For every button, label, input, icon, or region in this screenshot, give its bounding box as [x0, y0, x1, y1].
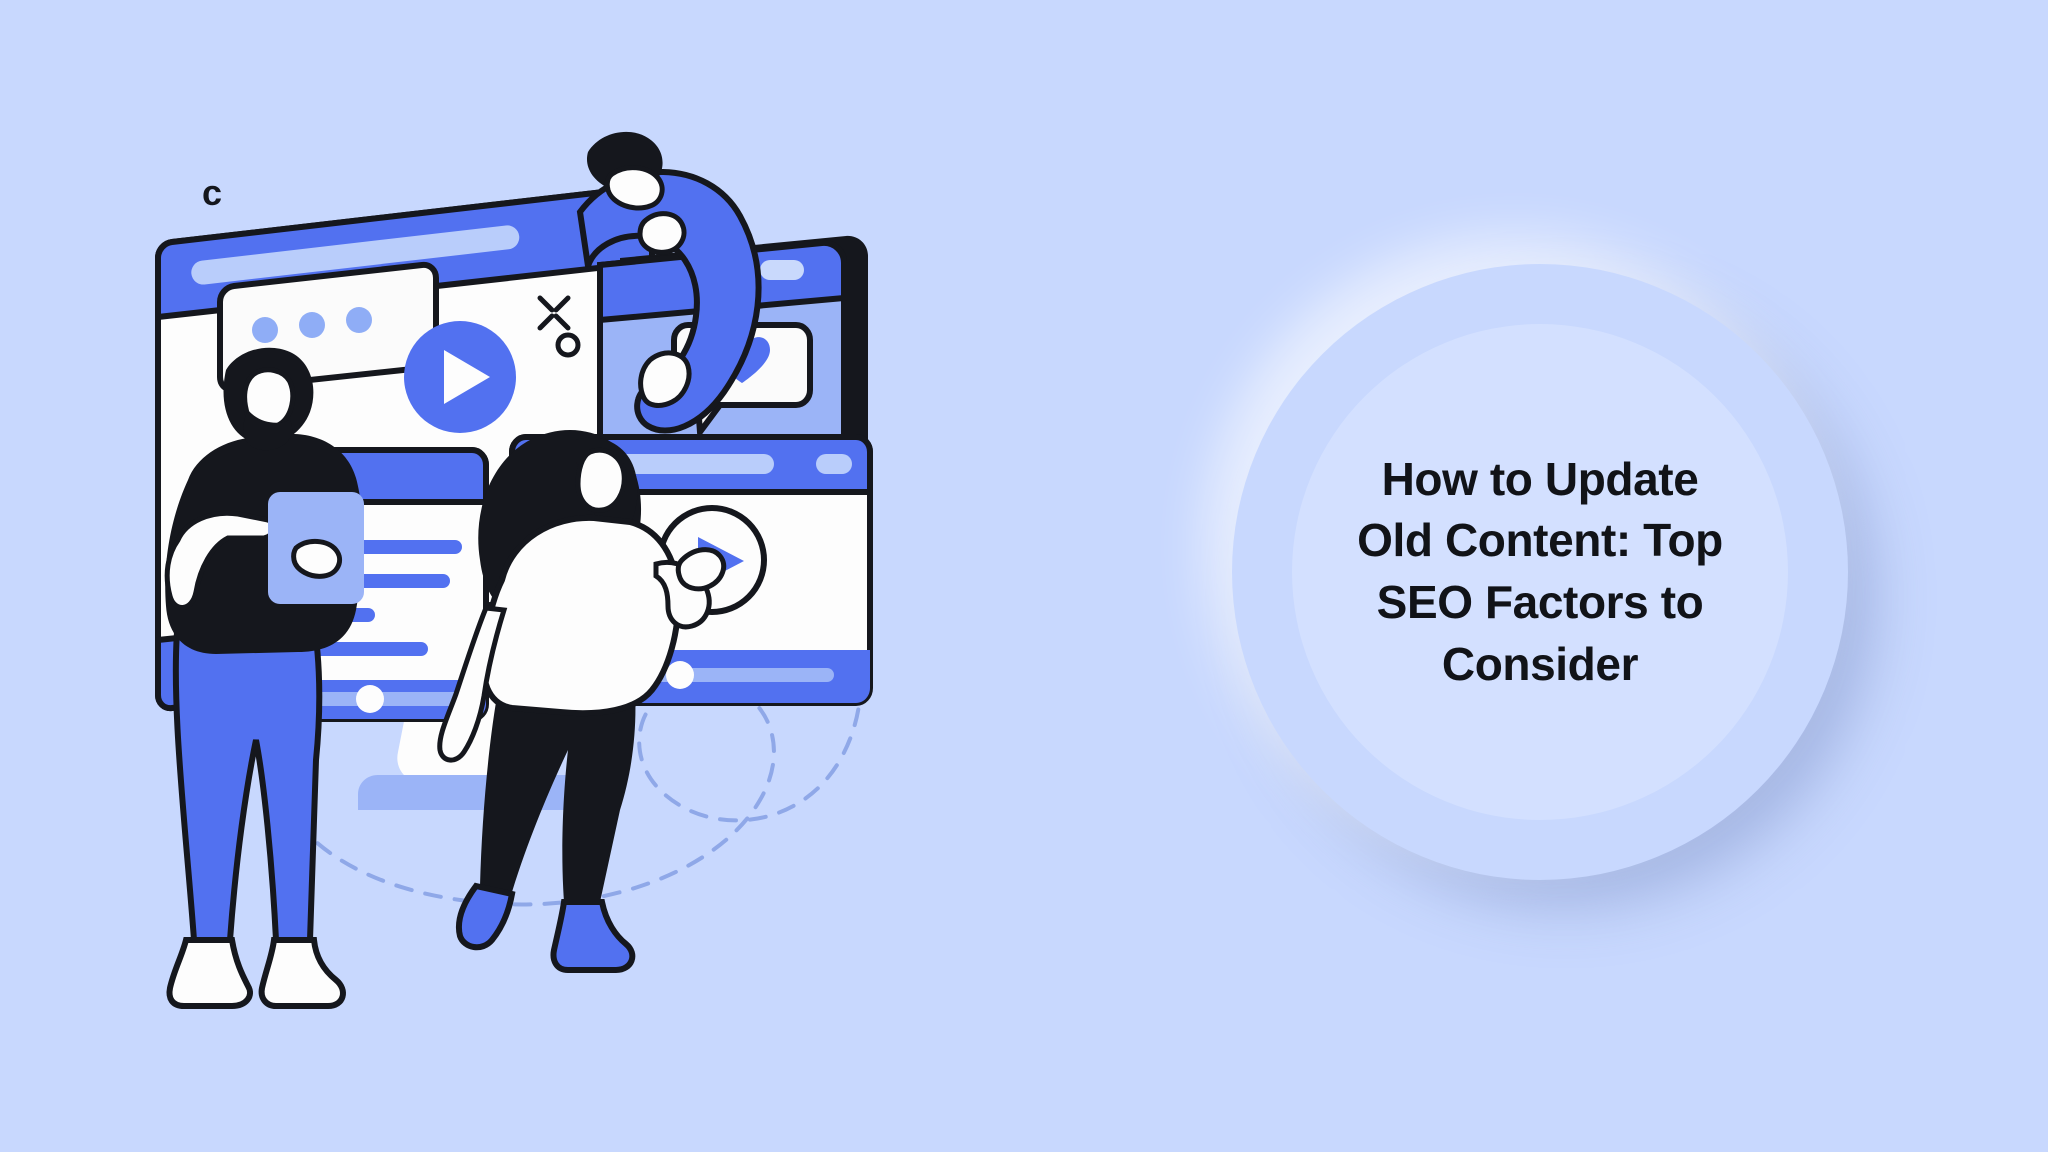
woman-hand-right [678, 550, 723, 589]
woman-shoe-left [459, 886, 512, 947]
leaning-person-hand-bottom [641, 353, 689, 406]
hero-illustration: c [60, 40, 1180, 1120]
man-hand-right [294, 541, 340, 576]
leaning-person-face [607, 168, 662, 208]
leaning-person-hand-top [640, 214, 684, 253]
hero-circle-face: How to Update Old Content: Top SEO Facto… [1292, 324, 1788, 820]
tablet-control-pill [760, 260, 804, 280]
monitor-base [358, 775, 592, 810]
page-title: How to Update Old Content: Top SEO Facto… [1325, 449, 1755, 696]
hero-circle: How to Update Old Content: Top SEO Facto… [1232, 264, 1848, 880]
typing-dot [252, 317, 278, 343]
woman-face [578, 450, 624, 510]
man-shoe-left [170, 940, 251, 1006]
poster-canvas: c [0, 0, 2048, 1152]
front-progress-knob [666, 661, 694, 689]
letter-c-mark: c [202, 172, 222, 213]
man-shoe-right [262, 940, 343, 1006]
woman-shoe-right [554, 902, 633, 970]
svg-text:c: c [202, 172, 222, 213]
typing-dot [299, 312, 325, 338]
play-button-filled[interactable] [404, 321, 516, 433]
front-control-pill [816, 454, 852, 474]
typing-dot [346, 307, 372, 333]
progress-knob [356, 685, 384, 713]
